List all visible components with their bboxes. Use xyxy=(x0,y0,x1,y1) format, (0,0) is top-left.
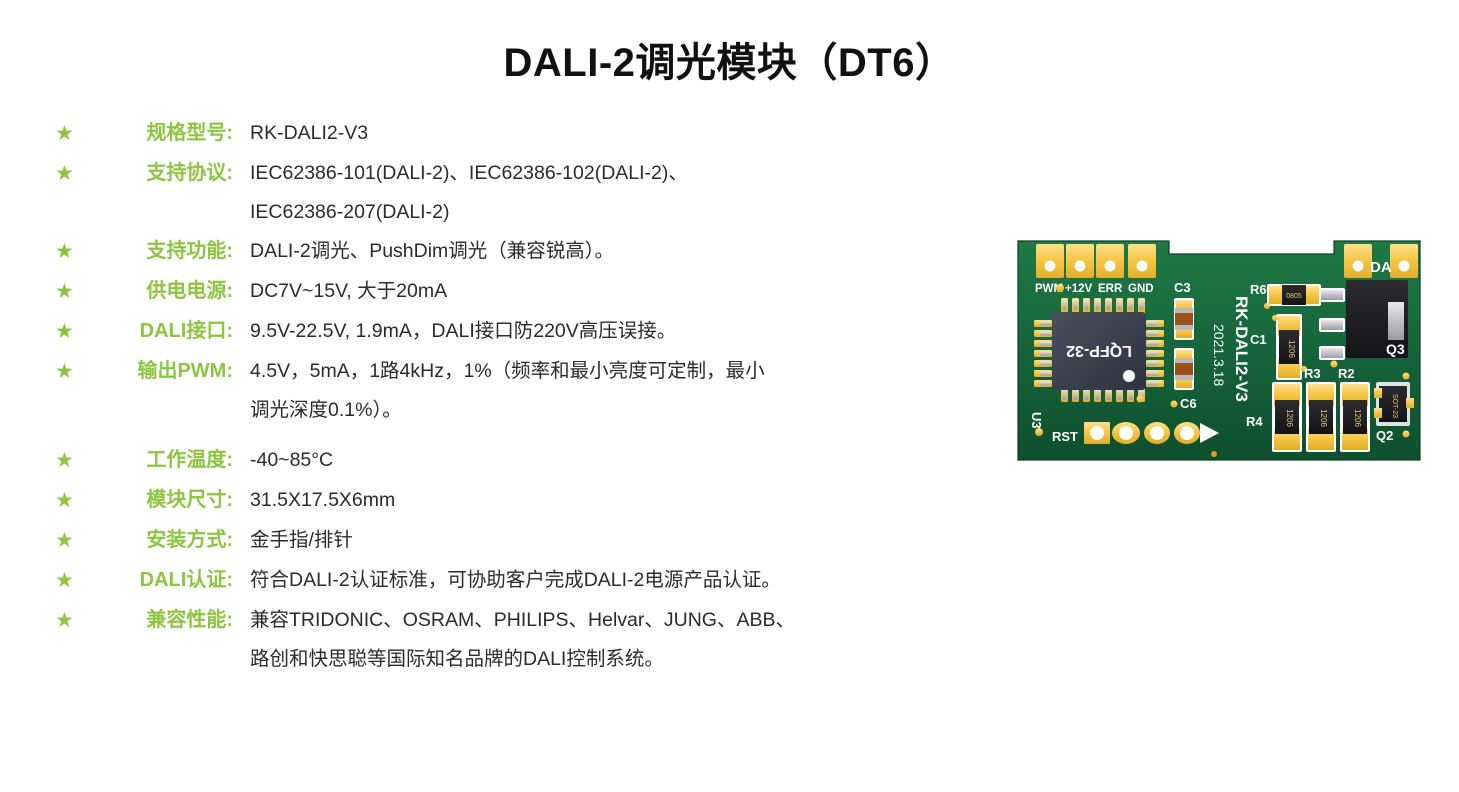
spec-value: IEC62386-101(DALI-2)、IEC62386-102(DALI-2… xyxy=(250,158,1005,227)
spec-value-line: IEC62386-101(DALI-2)、IEC62386-102(DALI-2… xyxy=(250,158,1005,188)
spec-value-line: RK-DALI2-V3 xyxy=(250,118,1005,148)
star-icon: ★ xyxy=(55,446,81,476)
designator-r4: R4 xyxy=(1246,414,1263,429)
designator-q3: Q3 xyxy=(1386,341,1405,357)
spec-label: 规格型号: xyxy=(81,118,233,148)
spec-value: 31.5X17.5X6mm xyxy=(250,485,1005,515)
spec-value: 4.5V，5mA，1路4kHz，1%（频率和最小亮度可定制，最小 调光深度0.1… xyxy=(250,356,1005,425)
spec-row: ★ 工作温度: -40~85°C xyxy=(55,445,1005,476)
spec-row: ★ 供电电源: DC7V~15V, 大于20mA xyxy=(55,276,1005,307)
silk-date: 2021.3.18 xyxy=(1211,324,1227,386)
designator-c6: C6 xyxy=(1180,396,1197,411)
designator-r2: R2 xyxy=(1338,366,1355,381)
star-icon: ★ xyxy=(55,159,81,189)
spec-row: ★ 支持协议: IEC62386-101(DALI-2)、IEC62386-10… xyxy=(55,158,1005,227)
spec-value: RK-DALI2-V3 xyxy=(250,118,1005,148)
star-icon: ★ xyxy=(55,606,81,636)
star-icon: ★ xyxy=(55,357,81,387)
designator-c3: C3 xyxy=(1174,280,1191,295)
spec-value: -40~85°C xyxy=(250,445,1005,475)
spec-value-line: 路创和快思聪等国际知名品牌的DALI控制系统。 xyxy=(250,644,1005,674)
spec-sheet-page: DALI-2调光模块（DT6） ★ 规格型号: RK-DALI2-V3 ★ 支持… xyxy=(0,0,1459,792)
spec-value: 兼容TRIDONIC、OSRAM、PHILIPS、Helvar、JUNG、ABB… xyxy=(250,605,1005,674)
star-icon: ★ xyxy=(55,317,81,347)
component-code-1206: 1206 xyxy=(1285,409,1294,427)
component-c6: C6 xyxy=(1171,348,1197,411)
spec-value-line: DALI-2调光、PushDim调光（兼容锐高）。 xyxy=(250,236,1005,266)
spec-value-line: IEC62386-207(DALI-2) xyxy=(250,197,1005,227)
pad-label-err: ERR xyxy=(1098,283,1123,295)
spec-row: ★ DALI认证: 符合DALI-2认证标准，可协助客户完成DALI-2电源产品… xyxy=(55,565,1005,596)
spec-row: ★ DALI接口: 9.5V-22.5V, 1.9mA，DALI接口防220V高… xyxy=(55,316,1005,347)
star-icon: ★ xyxy=(55,119,81,149)
spec-label: DALI认证: xyxy=(81,565,233,595)
spec-value: 金手指/排针 xyxy=(250,525,1005,555)
spec-value-line: -40~85°C xyxy=(250,445,1005,475)
spec-row: ★ 输出PWM: 4.5V，5mA，1路4kHz，1%（频率和最小亮度可定制，最… xyxy=(55,356,1005,425)
pcb-svg: PWM +12V ERR GND DA xyxy=(1014,236,1424,466)
designator-r6: R6 xyxy=(1250,282,1267,297)
pad-label-12v: +12V xyxy=(1065,283,1093,295)
spec-label: 支持协议: xyxy=(81,158,233,188)
spec-row: ★ 规格型号: RK-DALI2-V3 xyxy=(55,118,1005,149)
component-code-1206: 1206 xyxy=(1287,340,1296,358)
star-icon: ★ xyxy=(55,277,81,307)
pad-label-da: DA xyxy=(1370,259,1392,276)
spec-label: 模块尺寸: xyxy=(81,485,233,515)
q3-left-pads xyxy=(1319,288,1345,368)
spec-value-line: 9.5V-22.5V, 1.9mA，DALI接口防220V高压误接。 xyxy=(250,316,1005,346)
star-icon: ★ xyxy=(55,486,81,516)
designator-u3: U3 xyxy=(1029,412,1044,429)
pad-label-gnd: GND xyxy=(1128,283,1154,295)
spec-row: ★ 支持功能: DALI-2调光、PushDim调光（兼容锐高）。 xyxy=(55,236,1005,267)
spec-value-line: 调光深度0.1%）。 xyxy=(250,395,1005,425)
spec-value-line: 金手指/排针 xyxy=(250,525,1005,555)
spec-label: 工作温度: xyxy=(81,445,233,475)
spec-value: 符合DALI-2认证标准，可协助客户完成DALI-2电源产品认证。 xyxy=(250,565,1005,595)
star-icon: ★ xyxy=(55,566,81,596)
spec-list: ★ 规格型号: RK-DALI2-V3 ★ 支持协议: IEC62386-101… xyxy=(55,118,1005,683)
component-code-0805: 0805 xyxy=(1286,293,1302,300)
spec-row: ★ 模块尺寸: 31.5X17.5X6mm xyxy=(55,485,1005,516)
spec-value-line: 31.5X17.5X6mm xyxy=(250,485,1005,515)
designator-r3: R3 xyxy=(1304,366,1321,381)
spec-value-line: 符合DALI-2认证标准，可协助客户完成DALI-2电源产品认证。 xyxy=(250,565,1005,595)
spec-row: ★ 安装方式: 金手指/排针 xyxy=(55,525,1005,556)
spec-label: 支持功能: xyxy=(81,236,233,266)
spec-label: 输出PWM: xyxy=(81,356,233,386)
designator-q2: Q2 xyxy=(1376,428,1393,443)
star-icon: ★ xyxy=(55,526,81,556)
designator-rst: RST xyxy=(1052,429,1078,444)
chip-pin1-dot xyxy=(1123,370,1135,382)
lqfp32-chip: LQFP-32 xyxy=(1034,298,1164,402)
designator-c1: C1 xyxy=(1250,332,1267,347)
page-title: DALI-2调光模块（DT6） xyxy=(0,30,1459,88)
component-code-1206: 1206 xyxy=(1353,409,1362,427)
spec-value-line: 兼容TRIDONIC、OSRAM、PHILIPS、Helvar、JUNG、ABB… xyxy=(250,605,1005,635)
component-code-sot23: SOT-23 xyxy=(1391,394,1398,418)
component-code-1206: 1206 xyxy=(1319,409,1328,427)
spec-label: 安装方式: xyxy=(81,525,233,555)
spec-label: DALI接口: xyxy=(81,316,233,346)
component-q3: Q3 xyxy=(1346,280,1408,358)
spec-value: DC7V~15V, 大于20mA xyxy=(250,276,1005,306)
spec-label: 兼容性能: xyxy=(81,605,233,635)
spec-value-line: DC7V~15V, 大于20mA xyxy=(250,276,1005,306)
spec-value: 9.5V-22.5V, 1.9mA，DALI接口防220V高压误接。 xyxy=(250,316,1005,346)
pcb-board-image: PWM +12V ERR GND DA xyxy=(1014,236,1424,466)
spec-value: DALI-2调光、PushDim调光（兼容锐高）。 xyxy=(250,236,1005,266)
top-edge-pads-left xyxy=(1036,244,1156,278)
spec-label: 供电电源: xyxy=(81,276,233,306)
star-icon: ★ xyxy=(55,237,81,267)
spec-value-line: 4.5V，5mA，1路4kHz，1%（频率和最小亮度可定制，最小 xyxy=(250,356,1005,386)
chip-label: LQFP-32 xyxy=(1066,342,1132,359)
silk-part-number: RK-DALI2-V3 xyxy=(1232,296,1251,402)
spec-row: ★ 兼容性能: 兼容TRIDONIC、OSRAM、PHILIPS、Helvar、… xyxy=(55,605,1005,674)
